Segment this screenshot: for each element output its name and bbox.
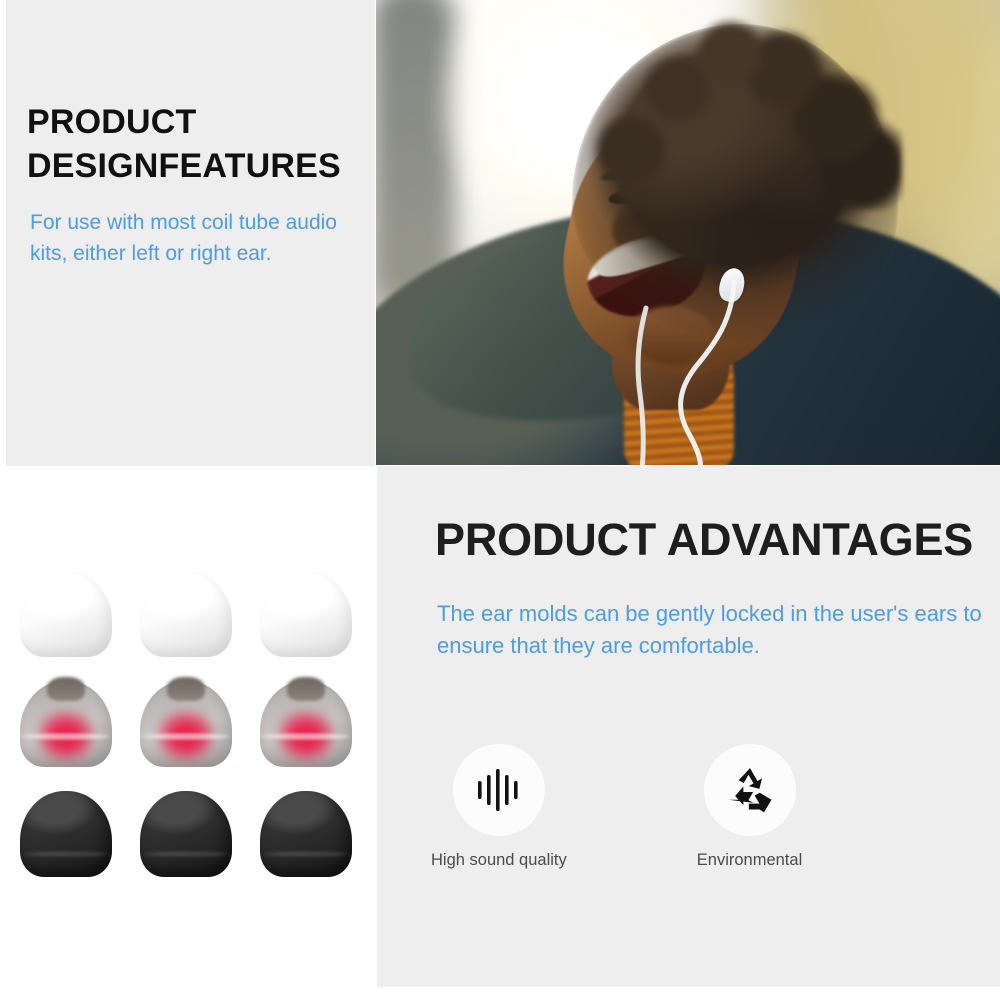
ear-tip-seam	[144, 851, 228, 857]
ear-tip-seam	[262, 733, 350, 740]
black-ear-tip	[140, 787, 232, 879]
badge-circle	[453, 744, 545, 836]
sound-wave-icon	[473, 764, 525, 816]
ear-tip-dome	[260, 791, 352, 877]
black-ear-tip	[20, 787, 112, 879]
design-features-title-line1: PRODUCT	[27, 101, 357, 145]
recycle-icon	[725, 765, 775, 815]
badge-environmental: Environmental	[697, 744, 802, 870]
ear-tip-gallery	[0, 466, 376, 1000]
white-ear-tip	[140, 567, 232, 659]
white-ear-tip	[260, 567, 352, 659]
ear-tip-dome	[20, 571, 112, 657]
ear-tip-dome	[140, 571, 232, 657]
ear-tip-nozzle	[167, 677, 205, 701]
badge-label: High sound quality	[431, 851, 567, 870]
product-advantages-panel: PRODUCT ADVANTAGES The ear molds can be …	[377, 466, 1000, 987]
hero-photo	[376, 0, 1000, 465]
advantage-badges: High sound quality En	[431, 744, 951, 870]
badge-circle	[704, 744, 796, 836]
ear-tip-grid	[6, 560, 366, 886]
ear-tip-nozzle	[47, 677, 85, 701]
ear-tip-dome	[140, 791, 232, 877]
product-advantages-title: PRODUCT ADVANTAGES	[435, 514, 973, 566]
design-features-title-line2: DESIGNFEATURES	[27, 145, 357, 189]
afro-hair-texture	[572, 10, 902, 210]
ear-tip-dome	[260, 571, 352, 657]
design-features-body: For use with most coil tube audio kits, …	[30, 207, 352, 269]
black-ear-tip	[260, 787, 352, 879]
ear-tip-nozzle	[287, 677, 325, 701]
gray-ear-tip	[20, 677, 112, 769]
product-advantages-body: The ear molds can be gently locked in th…	[437, 598, 983, 662]
ear-tip-seam	[24, 851, 108, 857]
ear-tip-dome	[20, 791, 112, 877]
ear-tip-seam	[142, 733, 230, 740]
hero-photo-canvas	[376, 0, 1000, 465]
gray-ear-tip	[140, 677, 232, 769]
design-features-panel: PRODUCT DESIGNFEATURES For use with most…	[6, 0, 375, 466]
design-features-title: PRODUCT DESIGNFEATURES	[27, 101, 357, 188]
badge-high-sound-quality: High sound quality	[431, 744, 567, 870]
gray-ear-tip	[260, 677, 352, 769]
white-ear-tip	[20, 567, 112, 659]
ear-tip-seam	[264, 851, 348, 857]
badge-label: Environmental	[697, 851, 802, 870]
earphone-cable	[526, 280, 756, 465]
product-infographic-page: PRODUCT DESIGNFEATURES For use with most…	[0, 0, 1000, 1000]
ear-tip-seam	[22, 733, 110, 740]
